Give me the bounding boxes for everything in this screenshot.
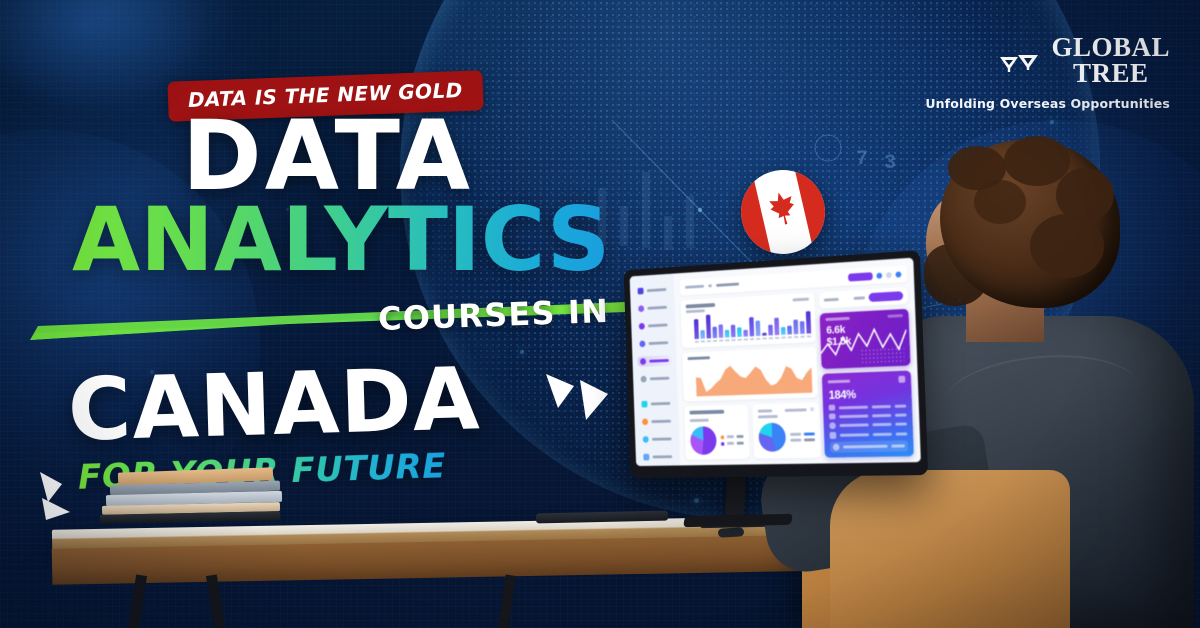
sidebar-spacer xyxy=(639,391,673,392)
bar xyxy=(793,319,798,334)
inbox-icon xyxy=(641,401,647,408)
legend-value xyxy=(737,442,744,445)
settings-icon xyxy=(642,418,648,425)
card-subtitle xyxy=(758,415,778,418)
row-value xyxy=(872,404,891,408)
bar xyxy=(706,315,711,338)
row-label xyxy=(840,433,869,437)
bar xyxy=(755,320,760,335)
computer-monitor: 6.6k $1.5k 184% xyxy=(624,250,929,478)
legend xyxy=(721,435,744,446)
sidebar-item-label xyxy=(649,359,669,363)
revenue-card: 6.6k $1.5k xyxy=(820,309,910,369)
topbar-actions xyxy=(848,270,901,281)
bar xyxy=(800,321,805,334)
bar xyxy=(768,325,773,335)
card-title xyxy=(687,356,710,360)
dashboard-sidebar xyxy=(630,274,681,466)
floating-digit: 7 xyxy=(856,148,870,171)
sidebar-item-label xyxy=(651,402,671,405)
sidebar-item-profile[interactable] xyxy=(641,451,675,462)
sidebar-item-label xyxy=(648,324,668,328)
axis-tick-label xyxy=(788,336,792,338)
sidebar-item-campaigns[interactable] xyxy=(637,355,671,367)
breadcrumb-separator xyxy=(708,284,712,287)
area-chart xyxy=(688,357,813,397)
growth-card: 184% xyxy=(822,371,914,458)
area-chart-card xyxy=(682,346,818,401)
logo-wordmark: GLOBAL TREE xyxy=(1051,34,1170,88)
reports-icon xyxy=(639,323,645,330)
card-title xyxy=(689,410,724,415)
customers-icon xyxy=(641,376,647,383)
sidebar-item-dashboard[interactable] xyxy=(635,284,669,296)
legend-value xyxy=(804,438,815,441)
card-meta xyxy=(887,314,902,318)
sidebar-item-label xyxy=(647,288,667,292)
area-series xyxy=(696,363,813,397)
growth-metric: 184% xyxy=(828,386,906,402)
dashboard-screen: 6.6k $1.5k 184% xyxy=(630,258,921,466)
bar xyxy=(718,325,722,338)
brand-logo[interactable]: GLOBAL TREE xyxy=(984,34,1170,88)
axis-tick-label xyxy=(794,336,798,338)
axis-tick-label xyxy=(800,335,804,337)
hair-lock xyxy=(974,180,1026,224)
donut-card xyxy=(684,404,750,459)
axis-tick-label xyxy=(725,339,729,341)
dashboard-main: 6.6k $1.5k 184% xyxy=(673,258,920,466)
row-label xyxy=(839,405,868,409)
headline-line-2: ANALYTICS xyxy=(72,196,610,284)
axis-tick-label xyxy=(713,339,717,341)
legend-label xyxy=(790,432,801,435)
table-row xyxy=(830,430,907,439)
logo-word-tree: TREE xyxy=(1051,60,1170,88)
row-label xyxy=(840,423,869,427)
dot-texture xyxy=(860,347,904,365)
dashboard-body: 6.6k $1.5k 184% xyxy=(680,287,914,460)
monitor-stand xyxy=(725,470,747,518)
pie-chart xyxy=(758,422,786,451)
axis-tick-label xyxy=(756,337,760,339)
dashboard-right-column: 6.6k $1.5k 184% xyxy=(819,287,914,458)
global-tree-crescent-icon xyxy=(984,36,1042,86)
table-row xyxy=(830,420,907,429)
sidebar-item-label xyxy=(653,455,673,458)
bar xyxy=(731,325,735,337)
hair-lock xyxy=(1004,136,1070,186)
bar xyxy=(737,327,741,336)
card-title xyxy=(828,380,850,384)
row-extra xyxy=(896,432,908,435)
headline-line-4: CANADA xyxy=(67,356,481,453)
table-row xyxy=(829,412,906,420)
sidebar-item-marketing[interactable] xyxy=(637,337,671,349)
table-row xyxy=(829,403,906,411)
row-label xyxy=(844,445,888,449)
legend-label xyxy=(791,438,802,441)
sidebar-item-customers[interactable] xyxy=(638,373,672,385)
row-extra xyxy=(895,422,907,425)
bar xyxy=(743,330,747,337)
row-label xyxy=(840,414,869,418)
row-icon xyxy=(830,432,837,439)
bar xyxy=(700,330,704,338)
avatar-icon[interactable] xyxy=(895,271,901,277)
sidebar-item-label xyxy=(647,306,667,310)
bar xyxy=(781,327,785,334)
sidebar-item-inbox[interactable] xyxy=(639,398,673,409)
footer-row[interactable] xyxy=(830,440,908,452)
dashboard-icon xyxy=(638,288,644,295)
segment-label xyxy=(824,298,839,302)
more-icon[interactable] xyxy=(810,407,814,411)
banner-root: 7 3 DATA IS THE NEW GOLD DATA ANALYTICS … xyxy=(0,0,1200,628)
axis-tick-label xyxy=(719,339,723,341)
candle-bar xyxy=(686,196,694,248)
help-icon[interactable] xyxy=(886,271,892,277)
bar xyxy=(712,327,716,338)
axis-tick-label xyxy=(744,338,748,340)
logo-word-global: GLOBAL xyxy=(1051,34,1170,60)
notifications-icon[interactable] xyxy=(876,272,882,278)
row-icon xyxy=(829,413,836,419)
breadcrumb-item[interactable] xyxy=(685,285,704,289)
bar xyxy=(762,333,766,335)
glow-dot xyxy=(694,498,699,503)
row-value xyxy=(872,413,891,416)
axis-tick-label xyxy=(781,336,785,338)
card-subtitle xyxy=(690,419,709,422)
segment-option[interactable] xyxy=(854,296,865,300)
axis-tick-label xyxy=(701,340,705,342)
row-icon xyxy=(829,405,836,411)
office-chair-cushion xyxy=(830,470,1070,628)
axis-tick-label xyxy=(695,340,699,342)
more-icon[interactable] xyxy=(898,376,905,383)
segment-option-active[interactable] xyxy=(869,291,904,302)
legend-label xyxy=(727,435,734,438)
legend-value xyxy=(804,432,815,435)
headline-block: DATA IS THE NEW GOLD DATA ANALYTICS COUR… xyxy=(0,0,680,520)
bar xyxy=(694,319,699,339)
row-icon xyxy=(833,444,840,451)
bar xyxy=(749,317,754,336)
bar xyxy=(806,311,811,333)
row-value xyxy=(873,433,892,436)
bar-chart xyxy=(686,306,811,339)
chevron-right-icon xyxy=(36,468,96,528)
glow-dot xyxy=(1050,120,1054,124)
analytics-icon xyxy=(638,305,644,312)
axis-tick-label xyxy=(807,335,811,337)
axis-tick-label xyxy=(769,337,773,339)
axis-tick-label xyxy=(731,339,735,341)
support-icon xyxy=(643,436,649,443)
hair-lock xyxy=(1030,214,1104,278)
breadcrumb-item[interactable] xyxy=(716,283,739,287)
dashboard-left-column xyxy=(680,292,820,459)
row-value xyxy=(872,423,891,426)
row-extra xyxy=(895,413,907,416)
card-filter[interactable] xyxy=(793,298,810,302)
axis-tick-label xyxy=(762,337,766,339)
logo-tagline: Unfolding Overseas Opportunities xyxy=(925,96,1170,111)
sidebar-item-label xyxy=(652,438,672,441)
campaigns-icon xyxy=(640,358,646,365)
axis-tick-label xyxy=(737,338,741,340)
sidebar-item-support[interactable] xyxy=(640,434,674,445)
sidebar-item-reports[interactable] xyxy=(636,320,670,332)
axis-tick-label xyxy=(775,336,779,338)
card-title xyxy=(686,303,716,308)
profile-icon xyxy=(643,454,649,461)
card-title xyxy=(758,409,772,412)
sidebar-item-settings[interactable] xyxy=(639,416,673,427)
card-title xyxy=(826,317,850,321)
bar-chart-card xyxy=(680,292,816,347)
primary-action-button[interactable] xyxy=(848,272,873,281)
legend-swatch xyxy=(721,435,725,439)
axis-tick-label xyxy=(750,338,754,340)
legend-label xyxy=(727,442,734,445)
sidebar-item-label xyxy=(651,420,671,423)
headline-line-3: COURSES IN xyxy=(377,292,609,338)
sidebar-item-label xyxy=(649,341,669,345)
axis-tick-label xyxy=(707,340,711,342)
mouse[interactable] xyxy=(718,527,744,537)
row-extra xyxy=(895,404,907,407)
segment-toggle[interactable] xyxy=(819,287,908,309)
bar xyxy=(725,330,729,337)
bar xyxy=(787,326,791,335)
row-icon xyxy=(830,422,837,429)
legend xyxy=(790,432,814,441)
donut-chart xyxy=(690,426,717,455)
chevron-right-icon xyxy=(540,368,626,438)
row-value xyxy=(891,444,905,447)
sidebar-item-analytics[interactable] xyxy=(636,302,670,314)
pie-card xyxy=(752,402,820,458)
sidebar-item-label xyxy=(650,377,670,381)
card-filter[interactable] xyxy=(784,408,806,412)
bar xyxy=(774,318,779,335)
book-stack xyxy=(100,470,285,526)
legend-value xyxy=(737,435,744,438)
marketing-icon xyxy=(639,341,645,348)
legend-swatch xyxy=(721,442,725,446)
